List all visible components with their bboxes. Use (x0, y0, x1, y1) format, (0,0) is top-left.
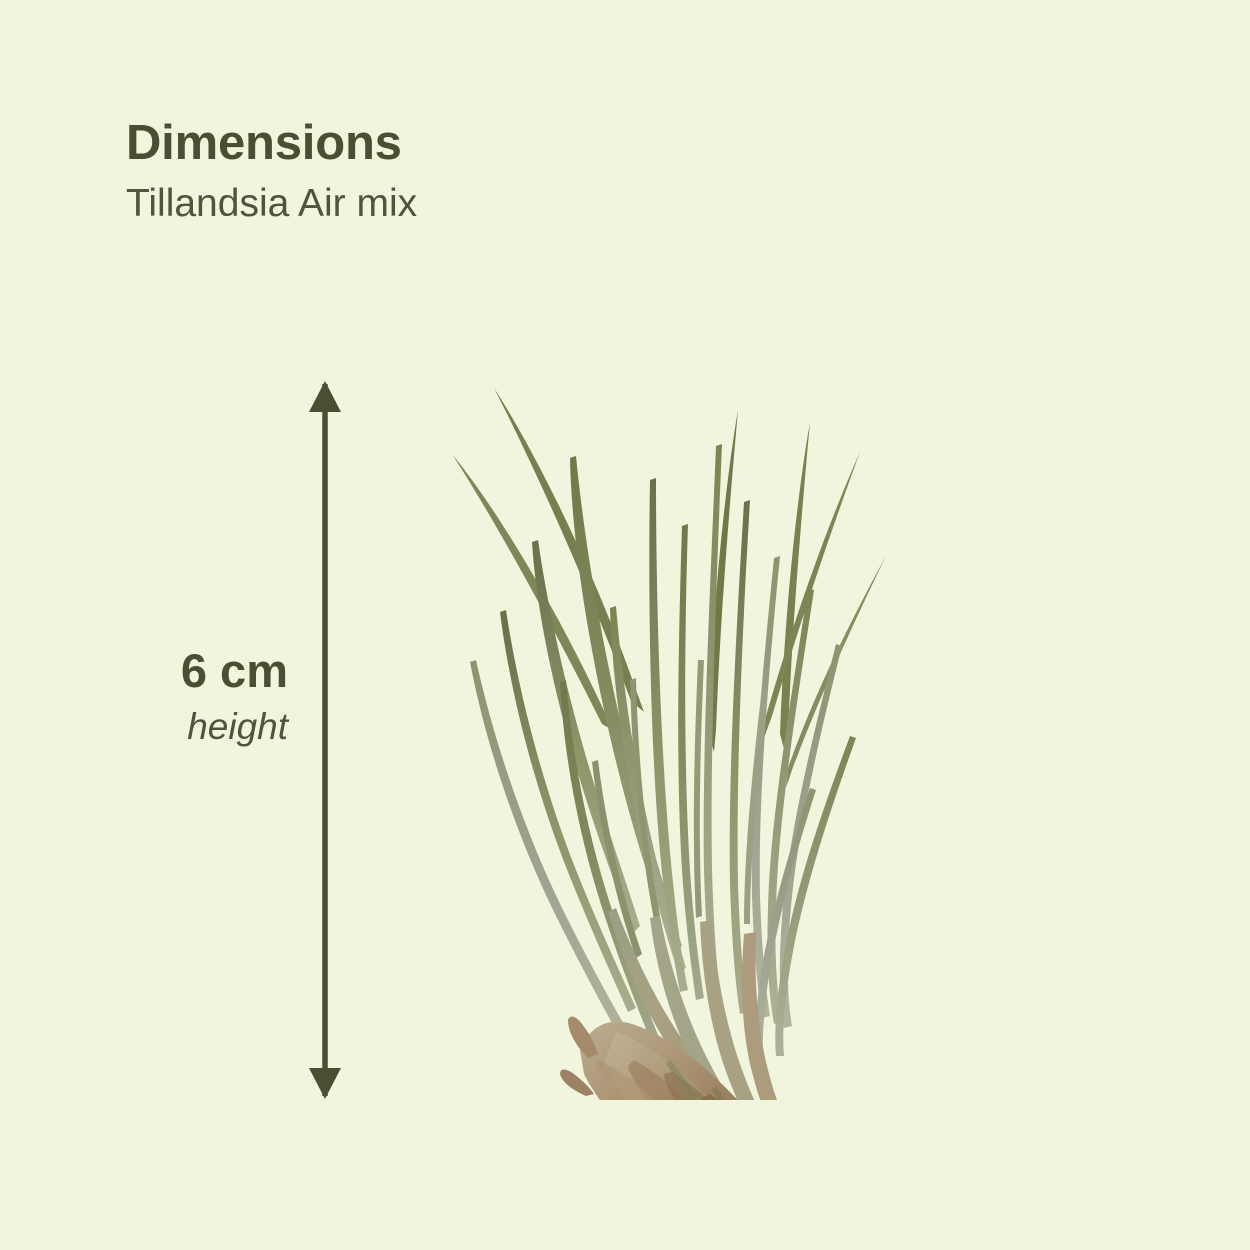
product-name: Tillandsia Air mix (126, 183, 826, 226)
dimensions-card: Dimensions Tillandsia Air mix 6 cm heigh… (0, 0, 1250, 1250)
height-dimension-arrow-icon (294, 370, 356, 1110)
measurement-value: 6 cm (60, 645, 288, 697)
measurement-dimension-name: height (60, 707, 288, 748)
header: Dimensions Tillandsia Air mix (126, 118, 826, 226)
page-title: Dimensions (126, 118, 826, 169)
measurement-label: 6 cm height (60, 645, 288, 747)
product-photo-tillandsia (420, 360, 890, 1100)
